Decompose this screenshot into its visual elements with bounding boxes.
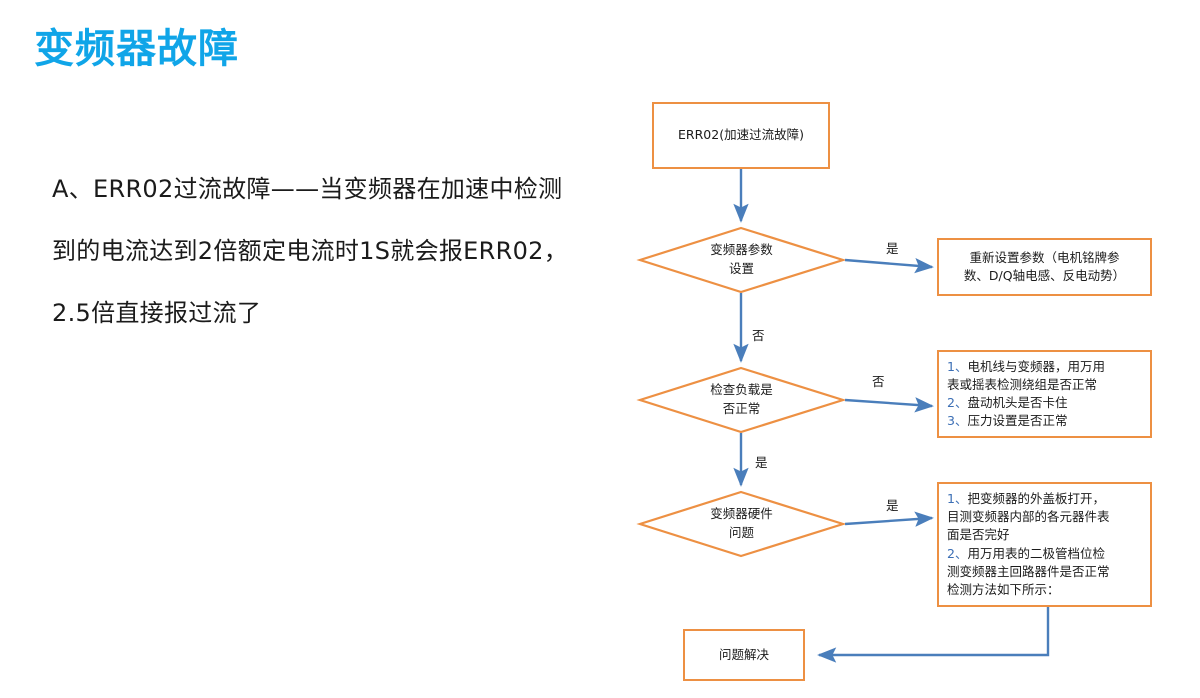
edge-label-params-yes: 是 bbox=[886, 238, 899, 257]
action-check-load-1-line-2: 表或摇表检测绕组是否正常 bbox=[947, 376, 1142, 394]
list-number-2: 2、 bbox=[947, 546, 967, 561]
edge-label-hardware-yes: 是 bbox=[886, 495, 899, 514]
action-check-hardware-item-2: 2、用万用表的二极管档位检 bbox=[947, 545, 1142, 563]
flow-node-decision-params[interactable] bbox=[640, 228, 843, 292]
list-number-1: 1、 bbox=[947, 491, 967, 506]
action-check-load-item-1: 1、电机线与变频器，用万用 bbox=[947, 358, 1142, 376]
edge-label-params-no: 否 bbox=[752, 325, 765, 344]
action-check-hardware-2-line-1: 用万用表的二极管档位检 bbox=[967, 546, 1105, 561]
flowchart: ERR02(加速过流故障) 变频器参数 设置 检查负载是 否正常 变频器硬件 问… bbox=[0, 0, 1200, 698]
action-check-hardware-1-line-3: 面是否完好 bbox=[947, 526, 1142, 544]
action-check-hardware-item-1: 1、把变频器的外盖板打开， bbox=[947, 490, 1142, 508]
action-check-hardware-1-line-1: 把变频器的外盖板打开， bbox=[967, 491, 1105, 506]
flow-node-action-reset-params[interactable]: 重新设置参数（电机铭牌参 数、D/Q轴电感、反电动势） bbox=[937, 238, 1152, 296]
list-number-1: 1、 bbox=[947, 359, 967, 374]
action-check-load-2-line-1: 盘动机头是否卡住 bbox=[967, 395, 1067, 410]
flow-node-action-check-hardware[interactable]: 1、把变频器的外盖板打开， 目测变频器内部的各元器件表 面是否完好 2、用万用表… bbox=[937, 482, 1152, 607]
flow-node-end[interactable]: 问题解决 bbox=[683, 629, 805, 681]
flow-node-start[interactable]: ERR02(加速过流故障) bbox=[652, 102, 830, 169]
action-check-load-item-3: 3、压力设置是否正常 bbox=[947, 412, 1142, 430]
connector-params-yes bbox=[845, 260, 932, 267]
flow-node-start-label: ERR02(加速过流故障) bbox=[662, 126, 820, 144]
flow-node-action-check-load[interactable]: 1、电机线与变频器，用万用 表或摇表检测绕组是否正常 2、盘动机头是否卡住 3、… bbox=[937, 350, 1152, 438]
flow-node-decision-hardware[interactable] bbox=[640, 492, 843, 556]
action-reset-params-line-2: 数、D/Q轴电感、反电动势） bbox=[947, 267, 1142, 285]
action-check-load-item-2: 2、盘动机头是否卡住 bbox=[947, 394, 1142, 412]
connector-hardware-to-end bbox=[819, 607, 1048, 655]
flow-node-end-label: 问题解决 bbox=[693, 646, 795, 664]
list-number-3: 3、 bbox=[947, 413, 967, 428]
edge-label-load-no: 否 bbox=[872, 371, 885, 390]
action-check-hardware-2-line-3: 检测方法如下所示： bbox=[947, 581, 1142, 599]
connector-load-no bbox=[845, 400, 932, 406]
action-reset-params-line-1: 重新设置参数（电机铭牌参 bbox=[947, 249, 1142, 267]
edge-label-load-yes: 是 bbox=[755, 452, 768, 471]
list-number-2: 2、 bbox=[947, 395, 967, 410]
connector-hardware-yes bbox=[845, 518, 932, 524]
action-check-hardware-2-line-2: 测变频器主回路器件是否正常 bbox=[947, 563, 1142, 581]
action-check-load-3-line-1: 压力设置是否正常 bbox=[967, 413, 1067, 428]
action-check-hardware-1-line-2: 目测变频器内部的各元器件表 bbox=[947, 508, 1142, 526]
action-check-load-1-line-1: 电机线与变频器，用万用 bbox=[967, 359, 1105, 374]
flow-node-decision-load[interactable] bbox=[640, 368, 843, 432]
